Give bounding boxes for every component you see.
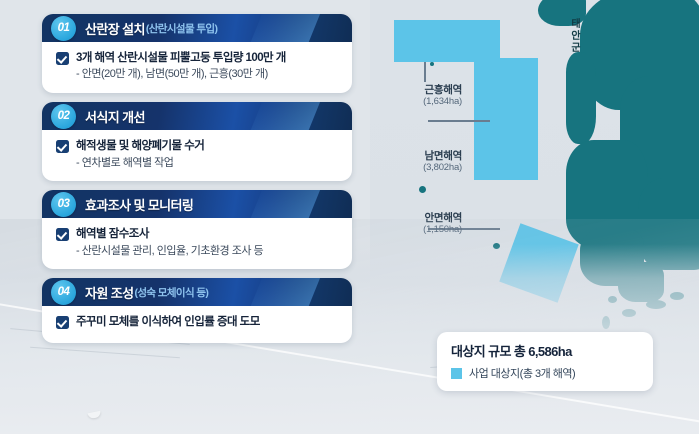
card-subtitle: (성숙 모체이식 등)	[134, 285, 208, 300]
zone-geunheung	[394, 20, 500, 62]
bullet-row: 해적생물 및 해양폐기물 수거	[56, 139, 340, 153]
bullet-sub-text: - 연차별로 해역별 작업	[76, 157, 340, 171]
bullet-row: 해역별 잠수조사	[56, 227, 340, 241]
land-mass-south-east	[638, 178, 699, 270]
card-subtitle: (산란시설물 투입)	[146, 21, 218, 36]
bullet-main-text: 주꾸미 모체를 이식하여 인입률 증대 도모	[76, 315, 260, 329]
card-body: 주꾸미 모체를 이식하여 인입률 증대 도모	[42, 306, 352, 342]
card-header: 04 자원 조성 (성숙 모체이식 등)	[42, 278, 352, 306]
card-title: 효과조사 및 모니터링	[85, 195, 193, 214]
check-icon	[56, 52, 69, 65]
card-header: 03 효과조사 및 모니터링	[42, 190, 352, 218]
island-10	[608, 296, 617, 303]
card-number-badge: 02	[51, 104, 76, 129]
legend-label: 사업 대상지(총 3개 해역)	[469, 365, 575, 381]
check-icon	[56, 140, 69, 153]
card-title: 산란장 설치	[85, 19, 145, 38]
boat-icon	[88, 411, 102, 420]
task-card[interactable]: 03 효과조사 및 모니터링 해역별 잠수조사 - 산란시설물 관리, 인입율,…	[42, 190, 352, 269]
legend-row: 사업 대상지(총 3개 해역)	[451, 365, 641, 381]
island-11	[622, 309, 636, 317]
task-card-list: 01 산란장 설치 (산란시설물 투입) 3개 해역 산란시설물 피뿔고둥 투입…	[42, 14, 352, 352]
infographic-root: 태안군 근흥해역 (1,634ha) 남면해역 (3,802ha) 안면해역 (…	[0, 0, 699, 434]
bullet-row: 주꾸미 모체를 이식하여 인입률 증대 도모	[56, 315, 340, 329]
zone-nammyeon	[474, 58, 538, 180]
island-9	[493, 243, 500, 249]
legend-swatch-icon	[451, 368, 462, 379]
card-title: 서식지 개선	[85, 107, 145, 126]
card-number-badge: 03	[51, 192, 76, 217]
leader-line-nammyeon	[428, 120, 490, 122]
card-header: 01 산란장 설치 (산란시설물 투입)	[42, 14, 352, 42]
check-icon	[56, 228, 69, 241]
task-card[interactable]: 01 산란장 설치 (산란시설물 투입) 3개 해역 산란시설물 피뿔고둥 투입…	[42, 14, 352, 93]
task-card[interactable]: 04 자원 조성 (성숙 모체이식 등) 주꾸미 모체를 이식하여 인입률 증대…	[42, 278, 352, 342]
card-header: 02 서식지 개선	[42, 102, 352, 130]
card-number-badge: 01	[51, 16, 76, 41]
bullet-sub-text: - 산란시설물 관리, 인입율, 기초환경 조사 등	[76, 245, 340, 259]
bullet-main-text: 해적생물 및 해양폐기물 수거	[76, 139, 204, 153]
map-label-nammyeon: 남면해역 (3,802ha)	[398, 150, 462, 174]
land-mass-south-tip	[618, 262, 664, 302]
leader-line-geunheung	[424, 62, 426, 82]
card-body: 3개 해역 산란시설물 피뿔고둥 투입량 100만 개 - 안면(20만 개),…	[42, 42, 352, 93]
island-13	[670, 292, 684, 300]
bullet-row: 3개 해역 산란시설물 피뿔고둥 투입량 100만 개	[56, 51, 340, 65]
task-card[interactable]: 02 서식지 개선 해적생물 및 해양폐기물 수거 - 연차별로 해역별 작업	[42, 102, 352, 181]
bullet-main-text: 해역별 잠수조사	[76, 227, 149, 241]
land-mass-peninsula-upper	[566, 52, 596, 144]
card-number-badge: 04	[51, 280, 76, 305]
legend-box: 대상지 규모 총 6,586ha 사업 대상지(총 3개 해역)	[437, 332, 653, 391]
island-7	[419, 186, 426, 193]
island-1	[430, 62, 434, 66]
card-title: 자원 조성	[85, 283, 133, 302]
card-body: 해역별 잠수조사 - 산란시설물 관리, 인입율, 기초환경 조사 등	[42, 218, 352, 269]
island-12	[646, 300, 666, 309]
bullet-sub-text: - 안면(20만 개), 남면(50만 개), 근흥(30만 개)	[76, 68, 340, 82]
map-label-anmyeon: 안면해역 (1,150ha)	[398, 212, 462, 236]
island-14	[602, 316, 610, 329]
check-icon	[56, 316, 69, 329]
map-label-geunheung: 근흥해역 (1,634ha)	[398, 84, 462, 108]
legend-title: 대상지 규모 총 6,586ha	[451, 341, 641, 360]
card-body: 해적생물 및 해양폐기물 수거 - 연차별로 해역별 작업	[42, 130, 352, 181]
bullet-main-text: 3개 해역 산란시설물 피뿔고둥 투입량 100만 개	[76, 51, 286, 65]
map-region-label: 태안군	[568, 18, 579, 54]
